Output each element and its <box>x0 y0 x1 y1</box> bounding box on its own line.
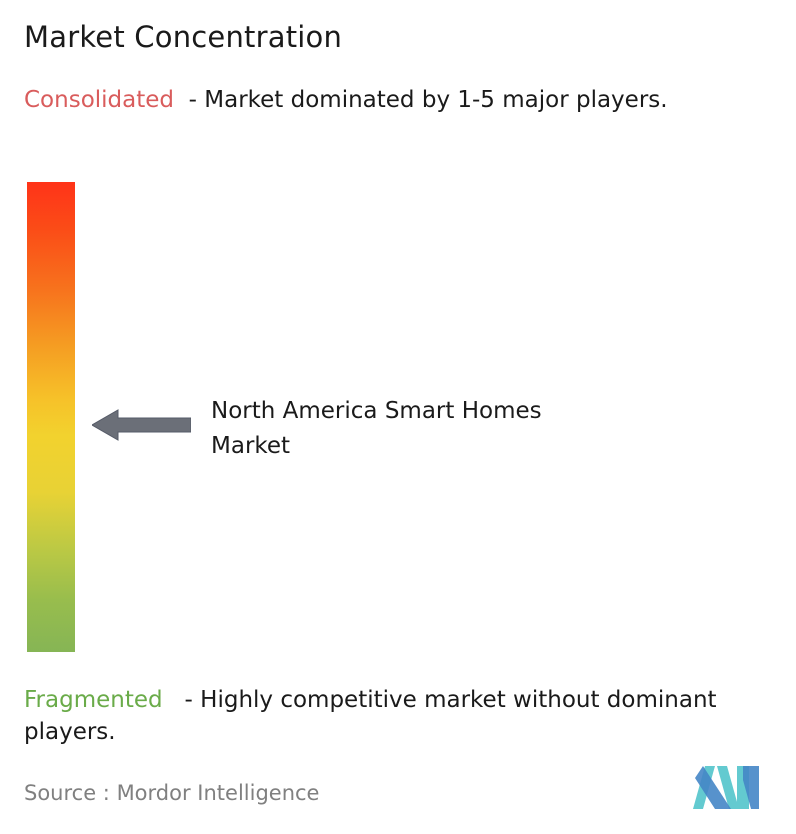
legend-separator-bottom: - <box>163 687 201 713</box>
left-arrow-icon <box>92 409 191 441</box>
legend-term-consolidated: Consolidated <box>24 87 174 113</box>
legend-description-consolidated: Market dominated by 1-5 major players. <box>204 87 667 113</box>
source-label: Source : <box>24 781 117 805</box>
legend-separator-top: - <box>174 87 204 113</box>
source-attribution: Source : Mordor Intelligence <box>24 781 319 805</box>
legend-term-fragmented: Fragmented <box>24 687 163 713</box>
mordor-intelligence-logo-icon <box>693 766 759 809</box>
page-title: Market Concentration <box>24 20 342 54</box>
market-concentration-gradient-bar <box>27 182 75 652</box>
legend-consolidated: Consolidated - Market dominated by 1-5 m… <box>24 84 772 116</box>
legend-fragmented: Fragmented - Highly competitive market w… <box>24 684 784 748</box>
source-value: Mordor Intelligence <box>117 781 320 805</box>
callout-market-label: North America Smart Homes Market <box>211 394 571 464</box>
